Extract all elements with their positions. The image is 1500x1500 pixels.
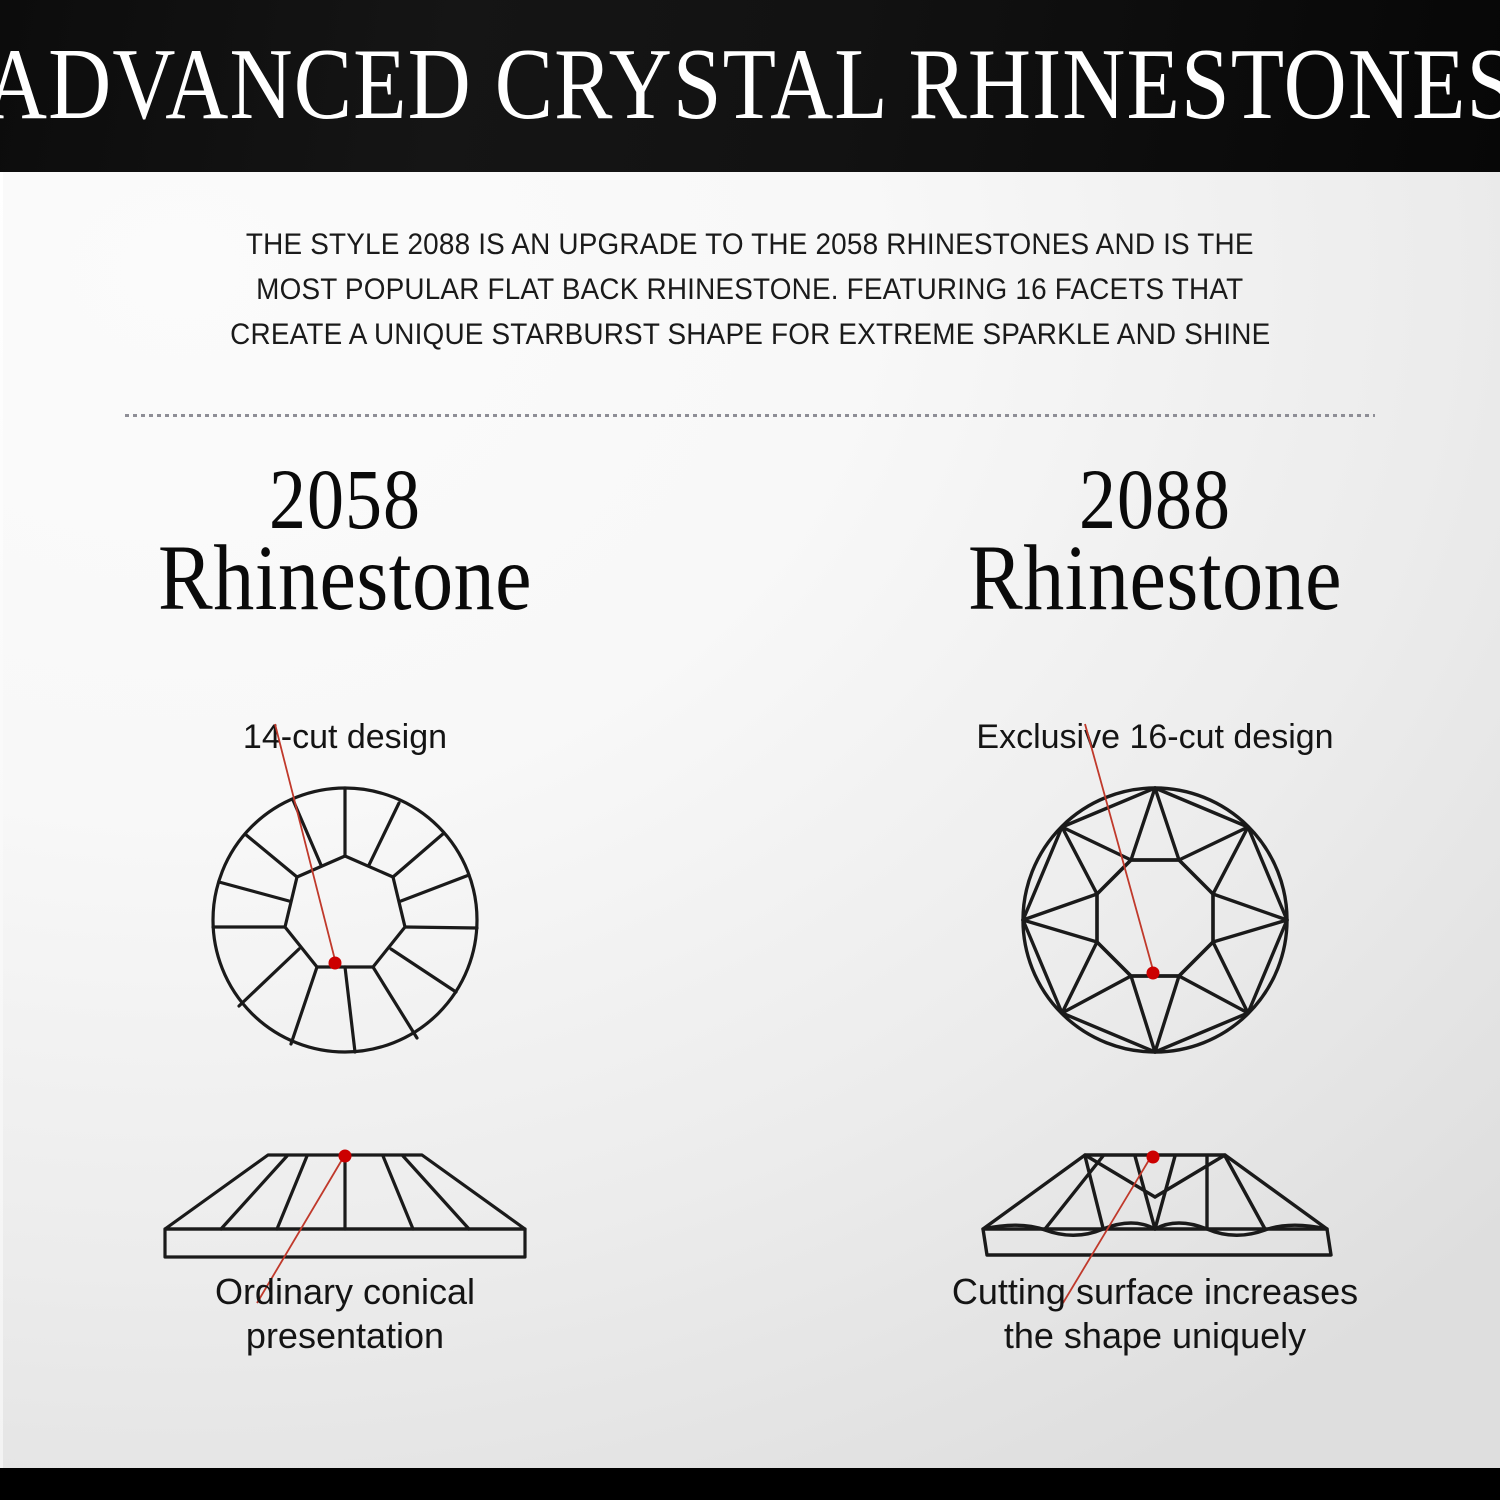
sideview-2058 xyxy=(25,1125,665,1285)
left-edge-highlight xyxy=(0,172,3,1468)
caption-2058-line-2: presentation xyxy=(246,1315,444,1356)
caption-2058: Ordinary conical presentation xyxy=(25,1270,665,1358)
intro-line-3: CREATE A UNIQUE STARBURST SHAPE FOR EXTR… xyxy=(230,312,1270,357)
column-2088: 2088 Rhinestone Exclusive 16-cut design xyxy=(835,470,1475,1430)
leader-dot-2088-side xyxy=(1147,1151,1160,1164)
diagram-2088-top xyxy=(835,770,1475,1070)
infographic-page: ADVANCED CRYSTAL RHINESTONES THE STYLE 2… xyxy=(0,0,1500,1500)
leader-dot-2088 xyxy=(1147,967,1160,980)
bottom-bar xyxy=(0,1468,1500,1500)
diagram-2058-top xyxy=(25,770,665,1070)
column-2058: 2058 Rhinestone 14-cut design xyxy=(25,470,665,1430)
divider xyxy=(125,414,1375,417)
stone-word-2058-text: Rhinestone xyxy=(158,530,532,626)
caption-2088-line-1: Cutting surface increases xyxy=(952,1271,1358,1312)
stone-title-2088: 2088 Rhinestone xyxy=(835,470,1475,626)
caption-2088: Cutting surface increases the shape uniq… xyxy=(835,1270,1475,1358)
callout-2058: 14-cut design xyxy=(25,718,665,757)
page-title-text: ADVANCED CRYSTAL RHINESTONES xyxy=(0,34,1500,135)
diagram-2058-side xyxy=(25,1125,665,1285)
leader-dot-2058-side xyxy=(339,1150,352,1163)
caption-2058-line-1: Ordinary conical xyxy=(215,1271,475,1312)
base-slab-2058 xyxy=(165,1229,525,1257)
stone-word-2058: Rhinestone xyxy=(25,542,665,626)
intro-paragraph: THE STYLE 2088 IS AN UPGRADE TO THE 2058… xyxy=(120,222,1380,357)
header-bar: ADVANCED CRYSTAL RHINESTONES xyxy=(0,0,1500,172)
page-title: ADVANCED CRYSTAL RHINESTONES xyxy=(0,45,1500,123)
stone-word-2088: Rhinestone xyxy=(835,542,1475,626)
caption-2088-line-2: the shape uniquely xyxy=(1004,1315,1306,1356)
topview-2088 xyxy=(835,770,1475,1070)
callout-2088: Exclusive 16-cut design xyxy=(835,718,1475,757)
topview-2058 xyxy=(25,770,665,1070)
leader-line-2088 xyxy=(1085,724,1153,970)
stone-title-2058: 2058 Rhinestone xyxy=(25,470,665,626)
intro-line-2: MOST POPULAR FLAT BACK RHINESTONE. FEATU… xyxy=(256,267,1243,312)
base-slab-2088 xyxy=(983,1229,1331,1255)
inner-table-2058 xyxy=(285,856,405,967)
stone-word-2088-text: Rhinestone xyxy=(968,530,1342,626)
diagram-2088-side xyxy=(835,1125,1475,1285)
leader-dot-2058 xyxy=(329,957,342,970)
sideview-2088 xyxy=(835,1125,1475,1285)
intro-line-1: THE STYLE 2088 IS AN UPGRADE TO THE 2058… xyxy=(246,222,1254,267)
